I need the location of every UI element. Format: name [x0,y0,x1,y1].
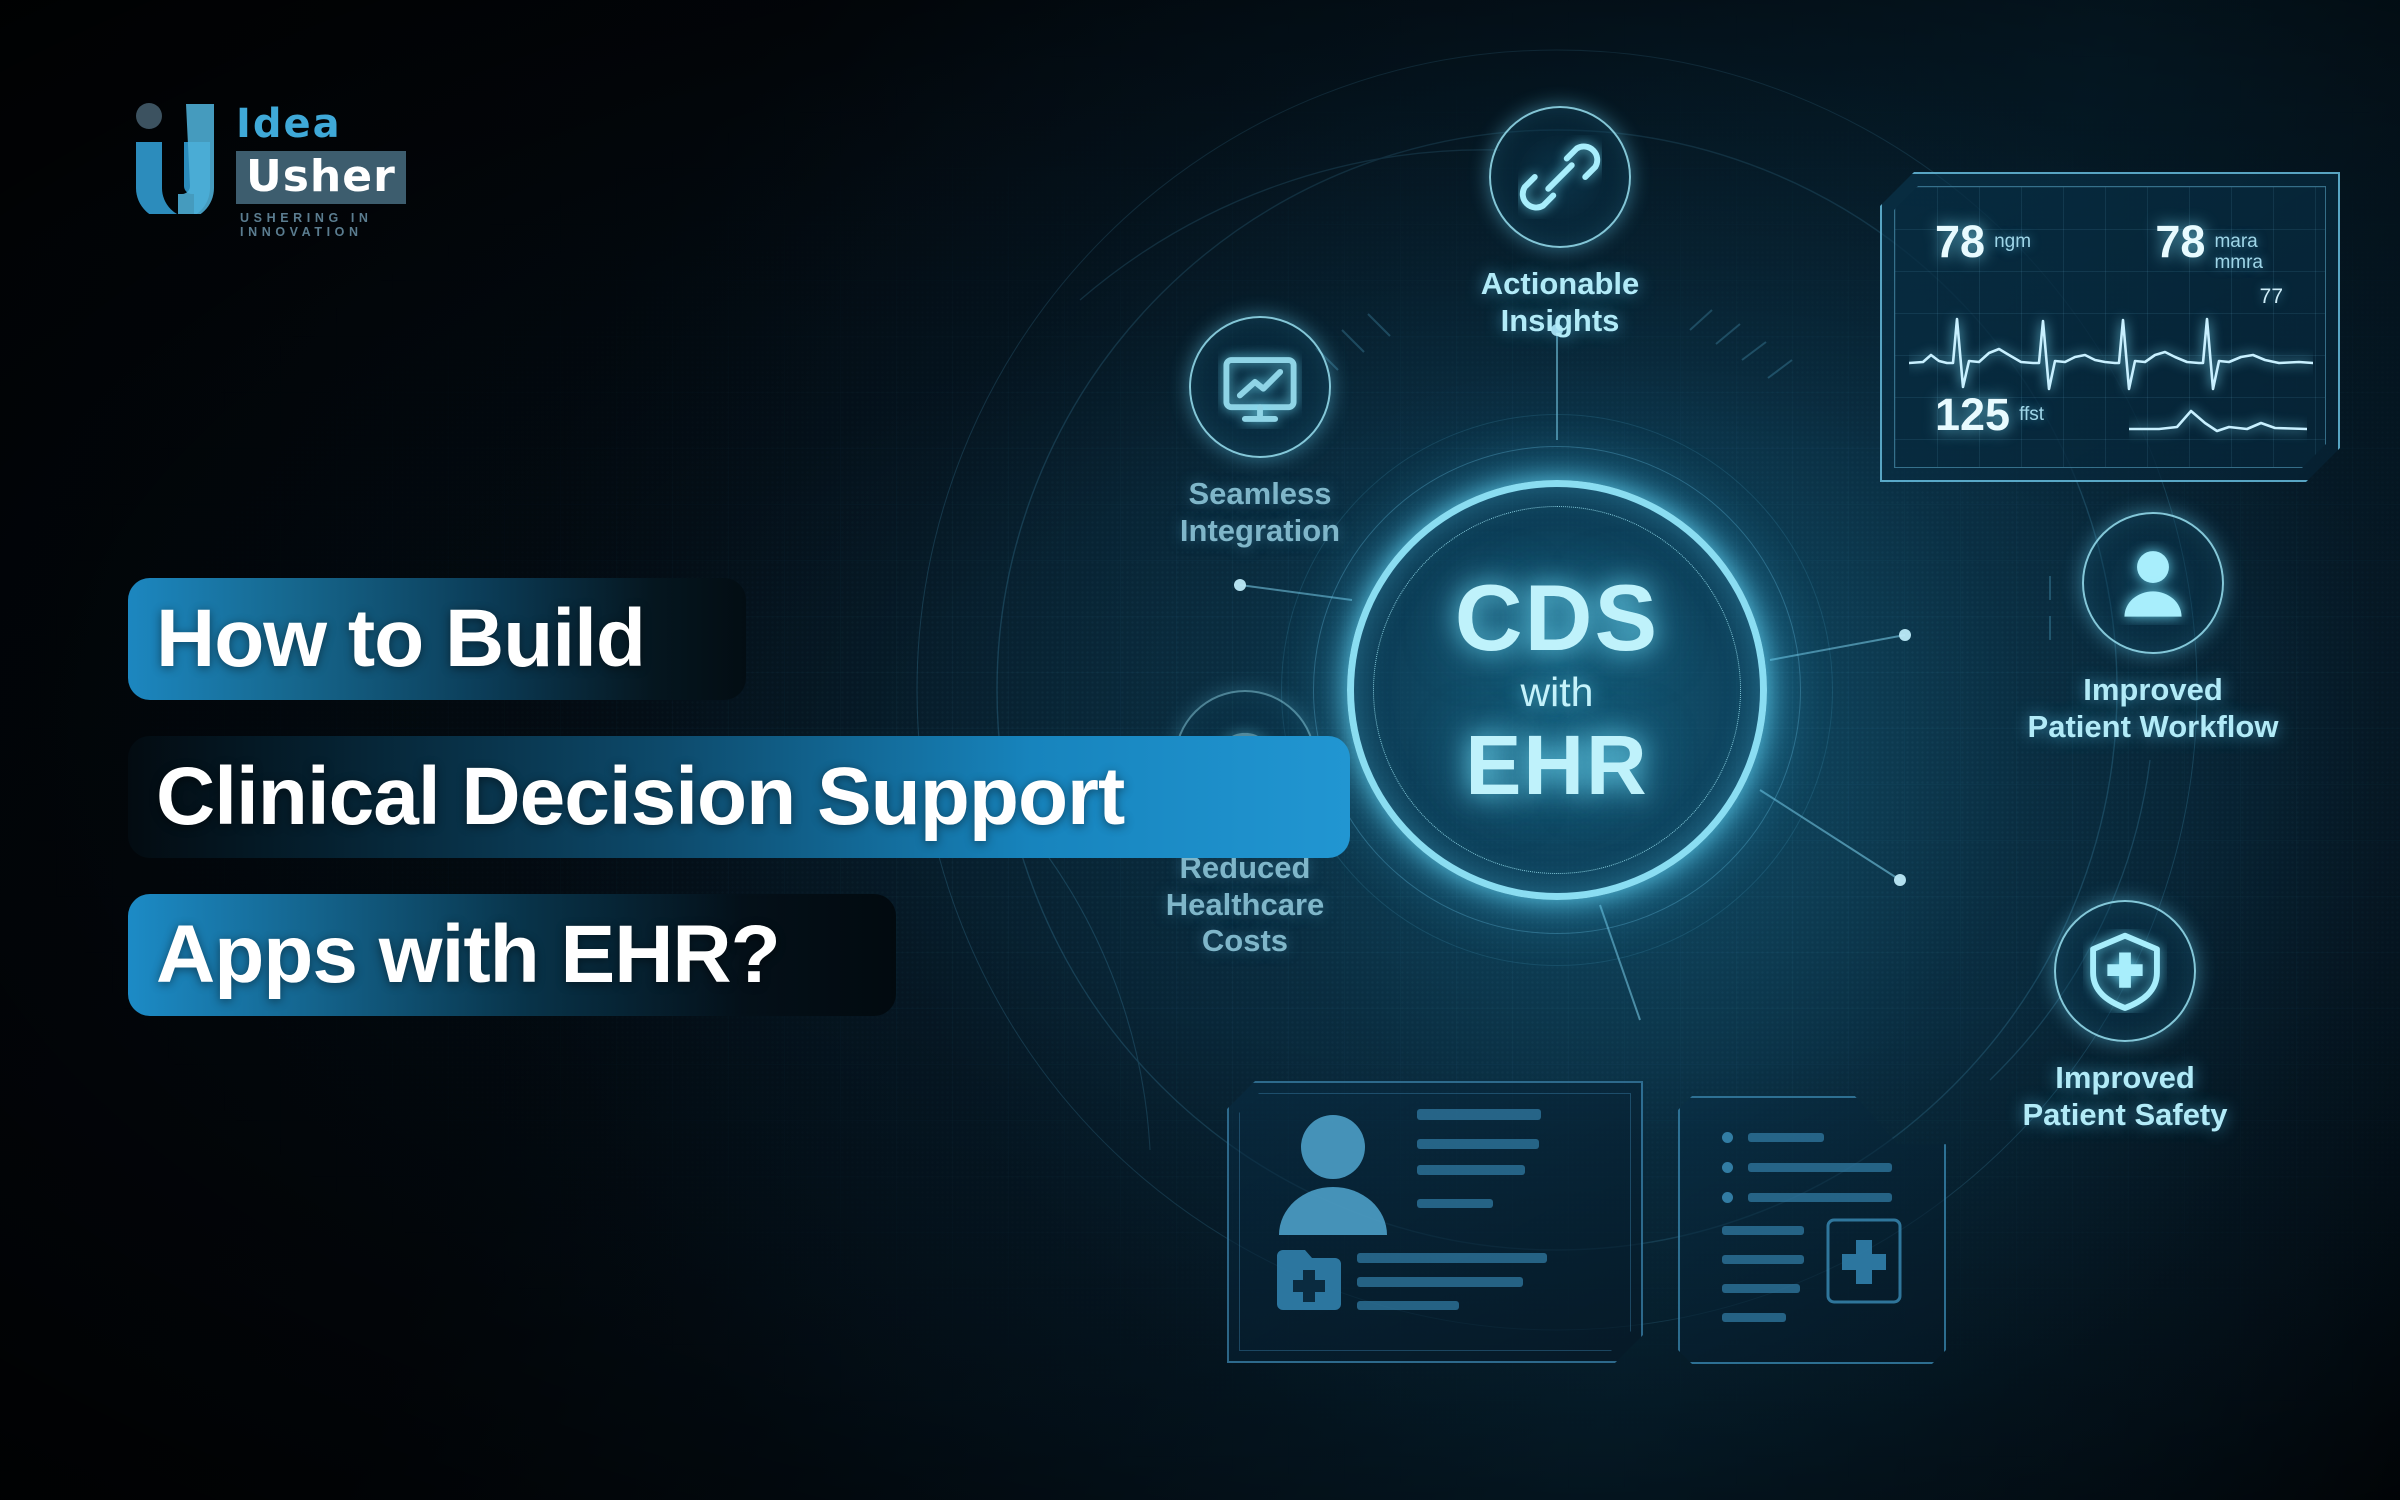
headline-line-1: How to Build [156,598,645,680]
feature-actionable-insights[interactable]: Actionable Insights [1430,106,1690,339]
ecg-reading-1: 78 ngm [1935,221,2031,264]
feature-icon-circle [2082,512,2224,654]
hub-label-group: CDS with EHR [1347,480,1767,900]
logo-usher-text: Usher [246,155,396,199]
feature-label: Improved Patient Safety [1960,1060,2290,1133]
id-card-text-line [1417,1139,1539,1149]
medical-cross-badge-icon [1826,1218,1902,1304]
document-text-line [1722,1313,1786,1322]
ecg-reading-2: 78 mara mmra [2155,221,2263,274]
person-avatar-icon [1273,1107,1393,1235]
id-card-text-line [1357,1301,1459,1310]
logo-tagline: USHERING IN INNOVATION [240,211,406,239]
document-text-line [1722,1284,1800,1293]
shield-plus-icon [2083,929,2167,1013]
medical-folder-plus-icon [1277,1248,1341,1310]
person-icon [2111,541,2195,625]
feature-icon-circle [1189,316,1331,458]
feature-label: Improved Patient Workflow [1988,672,2318,745]
feature-label: Seamless Integration [1130,476,1390,549]
ecg-waveform [1909,305,2313,401]
idea-usher-u-mark-icon [132,102,228,214]
id-card-text-line [1417,1165,1525,1175]
hub-title: CDS [1455,573,1659,662]
document-bullet [1722,1132,1733,1143]
link-chain-icon [1518,135,1602,219]
hero-banner: Idea Usher USHERING IN INNOVATION How to… [0,0,2400,1500]
document-text-line [1748,1163,1892,1172]
feature-label: Actionable Insights [1430,266,1690,339]
central-hub: CDS with EHR [1347,480,1767,900]
brand-logo[interactable]: Idea Usher USHERING IN INNOVATION [132,96,402,224]
logo-wordmark: Idea Usher USHERING IN INNOVATION [236,104,406,239]
id-card-text-line [1357,1253,1547,1263]
feature-improved-patient-safety[interactable]: Improved Patient Safety [1960,900,2290,1133]
respiration-waveform [2129,401,2307,445]
medical-record-document [1678,1096,1946,1364]
feature-icon-circle [1489,106,1631,248]
feature-seamless-integration[interactable]: Seamless Integration [1130,316,1390,549]
id-card-text-line [1417,1109,1541,1120]
ecg-reading-1-value: 78 [1935,221,1985,264]
headline-line-2: Clinical Decision Support [156,756,1124,838]
document-text-line [1722,1226,1804,1235]
monitor-chart-icon [1218,345,1302,429]
feature-label: Reduced Healthcare Costs [1105,850,1385,960]
logo-usher-block: Usher [236,151,406,204]
id-card-text-line [1417,1199,1493,1208]
feature-improved-patient-workflow[interactable]: Improved Patient Workflow [1988,512,2318,745]
document-bullet [1722,1192,1733,1203]
ecg-monitor-panel: 78 ngm 78 mara mmra 77 125 ffst [1880,172,2340,482]
document-text-line [1748,1193,1892,1202]
feature-icon-circle [2054,900,2196,1042]
ecg-screen: 78 ngm 78 mara mmra 77 125 ffst [1894,186,2326,468]
hub-connector-word: with [1521,662,1594,724]
patient-id-card [1227,1081,1643,1363]
logo-idea-text: Idea [236,104,406,144]
document-text-line [1748,1133,1824,1142]
headline-line-3: Apps with EHR? [156,914,780,996]
ecg-reading-1-unit: ngm [1994,221,2031,253]
hub-subtitle: EHR [1465,723,1648,807]
ecg-reading-2-value: 78 [2155,221,2205,264]
document-text-line [1722,1255,1804,1264]
id-card-text-line [1357,1277,1523,1287]
ecg-reading-2-unit: mara mmra [2214,221,2263,274]
document-bullet [1722,1162,1733,1173]
